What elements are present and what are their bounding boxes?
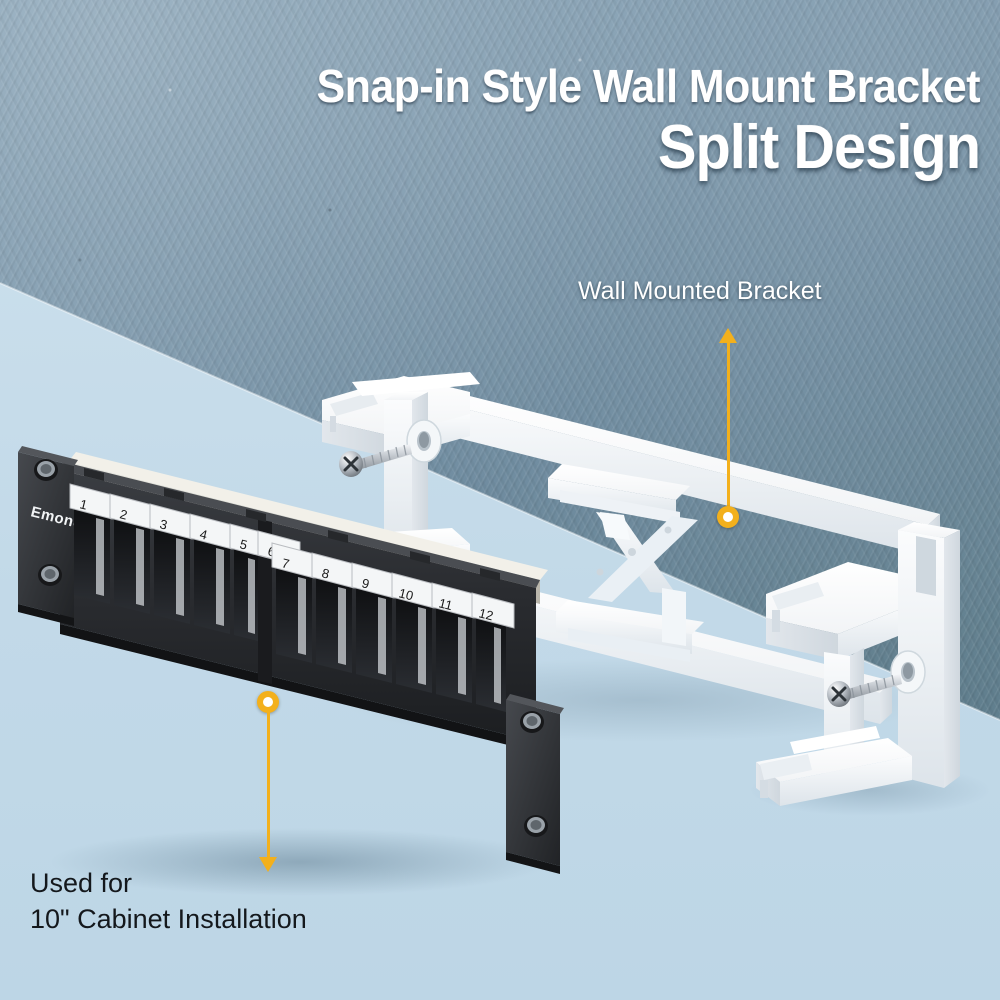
port-bay bbox=[356, 582, 392, 683]
bracket-center-split-joint bbox=[548, 464, 704, 662]
headline-line-1: Snap-in Style Wall Mount Bracket bbox=[69, 62, 980, 110]
screw-boss-left bbox=[407, 420, 441, 462]
callout-label-wall-mounted-bracket: Wall Mounted Bracket bbox=[578, 277, 822, 306]
product-marketing-image: Emone bbox=[0, 0, 1000, 1000]
caption-line-2: 10" Cabinet Installation bbox=[30, 902, 307, 938]
callout-arrow-up-icon bbox=[719, 328, 737, 343]
port-bay bbox=[316, 572, 352, 673]
caption-line-1: Used for bbox=[30, 866, 307, 902]
port-bay bbox=[194, 533, 230, 634]
callout-dot-bottom bbox=[257, 691, 279, 713]
caption-cabinet-installation: Used for 10" Cabinet Installation bbox=[30, 866, 307, 937]
screw-hole-top-left bbox=[34, 459, 58, 481]
port-bay bbox=[114, 513, 150, 614]
callout-leader-line-bottom bbox=[267, 712, 270, 858]
screw-hole-top-right bbox=[520, 711, 544, 733]
screw-hole-bottom-right bbox=[524, 815, 548, 837]
headline-line-2: Split Design bbox=[69, 116, 980, 179]
callout-dot-top bbox=[717, 506, 739, 528]
port-bay bbox=[436, 602, 472, 703]
screw-hole-bottom-left bbox=[38, 564, 62, 586]
screw-boss-right bbox=[891, 651, 925, 693]
headline-block: Snap-in Style Wall Mount Bracket Split D… bbox=[0, 62, 980, 180]
port-bay bbox=[234, 543, 258, 641]
port-bay bbox=[476, 612, 506, 712]
port-bay bbox=[396, 592, 432, 693]
port-bay bbox=[154, 523, 190, 624]
patch-panel-12-port: Emone bbox=[18, 446, 564, 874]
port-bay bbox=[276, 562, 312, 663]
callout-leader-line-top bbox=[727, 343, 730, 511]
port-bay bbox=[74, 503, 110, 604]
mounting-ear-right bbox=[506, 694, 564, 874]
